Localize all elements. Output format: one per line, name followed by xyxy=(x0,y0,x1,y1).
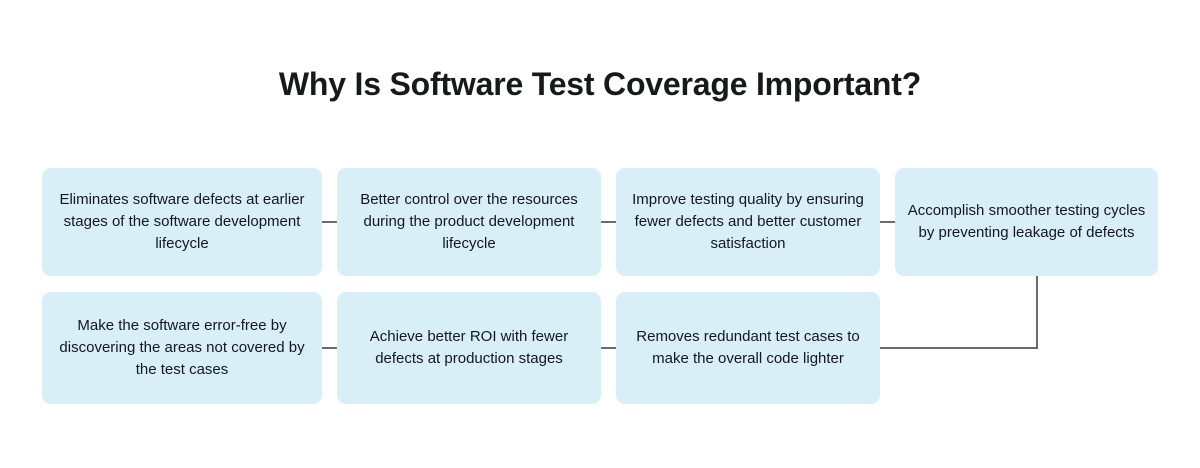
flow-node-6-label: Achieve better ROI with fewer defects at… xyxy=(349,326,589,370)
connector-node3-node4 xyxy=(880,221,895,223)
flow-node-5[interactable]: Make the software error-free by discover… xyxy=(42,292,322,404)
flow-node-1[interactable]: Eliminates software defects at earlier s… xyxy=(42,168,322,276)
flow-node-4-label: Accomplish smoother testing cycles by pr… xyxy=(907,200,1146,244)
flow-node-3[interactable]: Improve testing quality by ensuring fewe… xyxy=(616,168,880,276)
flow-node-2-label: Better control over the resources during… xyxy=(349,189,589,255)
flow-node-4[interactable]: Accomplish smoother testing cycles by pr… xyxy=(895,168,1158,276)
flow-node-2[interactable]: Better control over the resources during… xyxy=(337,168,601,276)
connector-node6-node7 xyxy=(601,347,616,349)
connector-node1-node2 xyxy=(322,221,337,223)
flow-node-5-label: Make the software error-free by discover… xyxy=(54,315,310,381)
flow-node-1-label: Eliminates software defects at earlier s… xyxy=(54,189,310,255)
flow-node-7-label: Removes redundant test cases to make the… xyxy=(628,326,868,370)
connector-node2-node3 xyxy=(601,221,616,223)
connector-node5-node6 xyxy=(322,347,337,349)
flow-node-3-label: Improve testing quality by ensuring fewe… xyxy=(628,189,868,255)
flow-node-7[interactable]: Removes redundant test cases to make the… xyxy=(616,292,880,404)
page-title: Why Is Software Test Coverage Important? xyxy=(0,62,1200,106)
connector-node4-node7-horizontal xyxy=(880,347,1038,349)
diagram-canvas: Why Is Software Test Coverage Important?… xyxy=(0,0,1200,468)
connector-node4-node7-vertical xyxy=(1036,276,1038,349)
flow-node-6[interactable]: Achieve better ROI with fewer defects at… xyxy=(337,292,601,404)
